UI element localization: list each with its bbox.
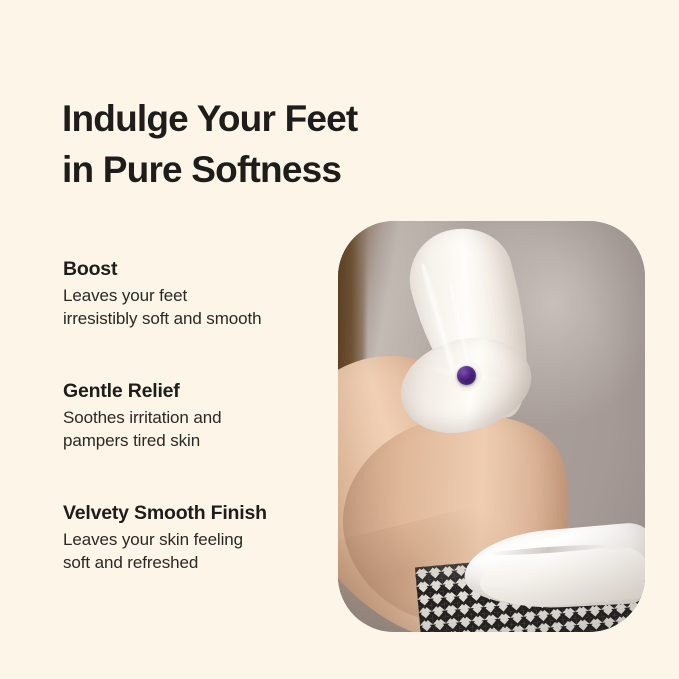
feature-description: Leaves your feet irresistibly soft and s… <box>63 284 325 330</box>
feature-item-velvety-smooth-finish: Velvety Smooth Finish Leaves your skin f… <box>63 501 325 574</box>
product-photo <box>338 221 645 632</box>
purple-gem-button-icon <box>457 366 476 385</box>
feature-title: Velvety Smooth Finish <box>63 501 325 526</box>
feature-list: Boost Leaves your feet irresistibly soft… <box>63 257 325 574</box>
feature-description-line: Leaves your skin feeling <box>63 528 325 551</box>
feature-item-gentle-relief: Gentle Relief Soothes irritation and pam… <box>63 379 325 452</box>
feature-description-line: Leaves your feet <box>63 284 325 307</box>
headline-line-2: in Pure Softness <box>62 144 482 195</box>
feature-description-line: pampers tired skin <box>63 429 325 452</box>
feature-description: Soothes irritation and pampers tired ski… <box>63 406 325 452</box>
feature-item-boost: Boost Leaves your feet irresistibly soft… <box>63 257 325 330</box>
feature-title: Gentle Relief <box>63 379 325 404</box>
feature-title: Boost <box>63 257 325 282</box>
feature-description-line: irresistibly soft and smooth <box>63 307 325 330</box>
feature-description-line: Soothes irritation and <box>63 406 325 429</box>
marketing-banner: Indulge Your Feet in Pure Softness Boost… <box>0 0 679 679</box>
headline-line-1: Indulge Your Feet <box>62 93 482 144</box>
feature-description-line: soft and refreshed <box>63 551 325 574</box>
feature-description: Leaves your skin feeling soft and refres… <box>63 528 325 574</box>
page-title: Indulge Your Feet in Pure Softness <box>62 93 482 195</box>
photo-scene <box>338 221 645 632</box>
